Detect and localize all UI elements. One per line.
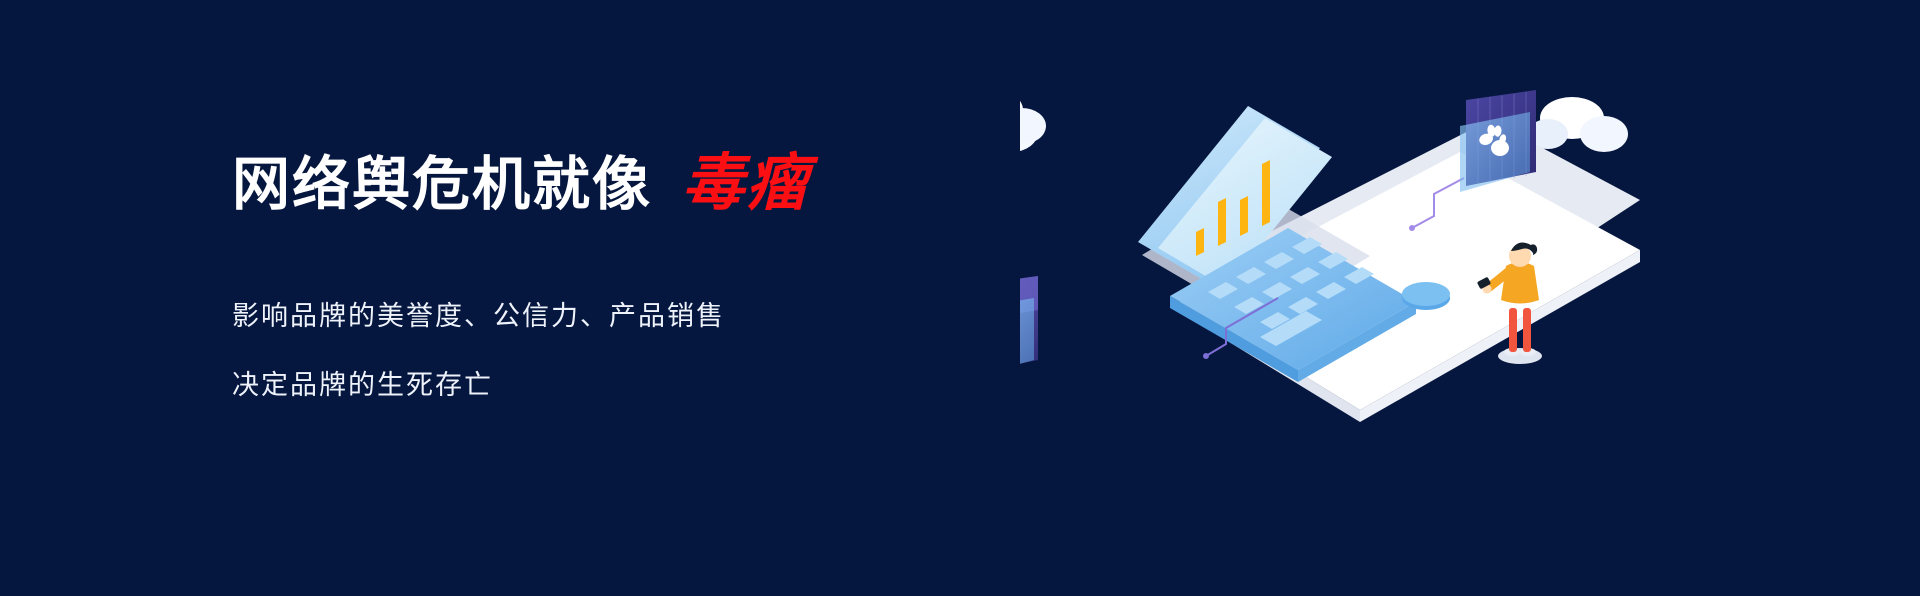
subtitle-line-2: 决定品牌的生死存亡	[232, 363, 992, 402]
cloud-top-left-icon	[1020, 88, 1046, 144]
subtitle-line-1: 影响品牌的美誉度、公信力、产品销售	[232, 294, 992, 333]
headline-accent-text: 毒瘤	[682, 150, 810, 218]
cloud-right-icon	[1528, 97, 1628, 152]
platform-marker-disc	[1402, 282, 1450, 310]
alert-message-card	[1020, 276, 1038, 380]
headline: 网络舆危机就像 毒瘤	[232, 150, 992, 218]
illustration-isometric-scene	[1020, 60, 1640, 560]
hero-banner: 网络舆危机就像 毒瘤 影响品牌的美誉度、公信力、产品销售 决定品牌的生死存亡	[0, 0, 1920, 596]
headline-main-text: 网络舆危机就像	[232, 153, 652, 217]
banner-text-block: 网络舆危机就像 毒瘤 影响品牌的美誉度、公信力、产品销售 决定品牌的生死存亡	[232, 150, 992, 402]
